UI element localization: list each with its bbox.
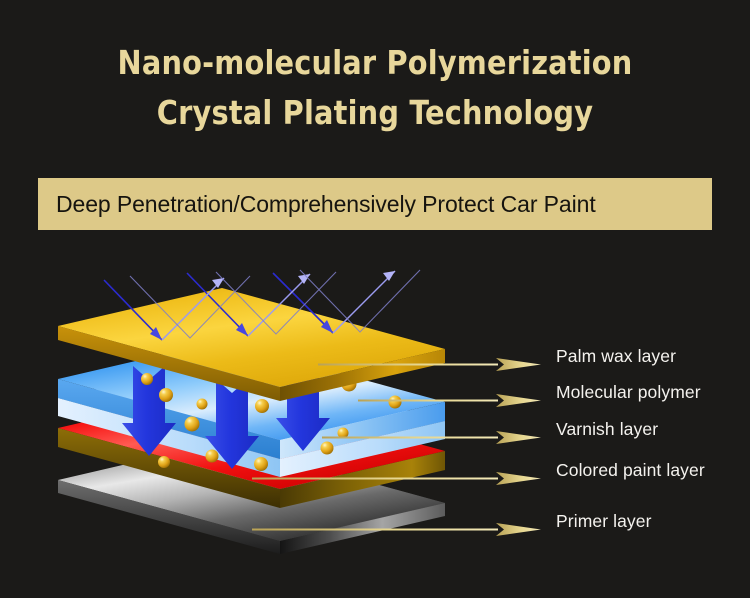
label-molecular-polymer: Molecular polymer [556,382,701,403]
molecule-sphere [321,442,334,455]
label-primer-layer: Primer layer [556,511,652,532]
molecule-sphere [141,373,153,385]
poster-canvas: Nano-molecular Polymerization Crystal Pl… [0,0,750,598]
title-line-2: Crystal Plating Technology [11,88,739,138]
subtitle-text: Deep Penetration/Comprehensively Protect… [38,191,596,218]
subtitle-banner: Deep Penetration/Comprehensively Protect… [38,178,712,230]
title-line-1: Nano-molecular Polymerization [11,38,739,88]
molecule-sphere [389,396,402,409]
label-colored-paint-layer: Colored paint layer [556,460,705,481]
molecule-sphere [185,417,200,432]
page-title: Nano-molecular Polymerization Crystal Pl… [0,38,750,138]
molecule-sphere [206,450,219,463]
molecule-sphere [255,399,269,413]
label-varnish-layer: Varnish layer [556,419,658,440]
molecule-sphere [158,456,170,468]
molecule-sphere [159,388,173,402]
molecule-sphere [254,457,268,471]
label-palm-wax-layer: Palm wax layer [556,346,676,367]
molecule-sphere [197,399,208,410]
